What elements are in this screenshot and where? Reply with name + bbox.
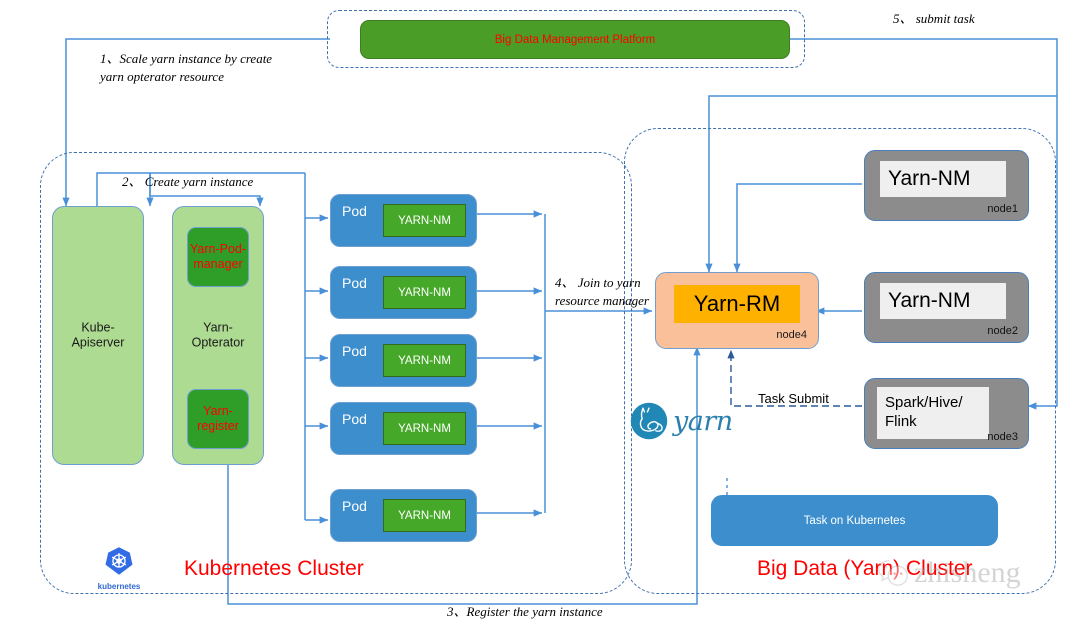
watermark-text: zhisheng	[914, 556, 1021, 590]
platform-label: Big Data Management Platform	[495, 34, 655, 46]
bigdata-node-3[interactable]: Spark/Hive/Flink node3	[864, 378, 1029, 449]
node1-label: Yarn-NM	[888, 167, 970, 191]
yarn-nm-container: YARN-NM	[383, 499, 466, 532]
node1-band: Yarn-NM	[880, 161, 1006, 197]
node2-label: Yarn-NM	[888, 289, 970, 313]
diagram-canvas: Big Data Management Platform Kube-Apiser…	[0, 0, 1080, 627]
kubernetes-logo: kubernetes	[96, 546, 142, 591]
yarn-nm-label: YARN-NM	[398, 287, 451, 299]
yarn-pod-manager-box[interactable]: Yarn-Pod-manager	[187, 227, 249, 287]
yarn-cat-icon	[630, 402, 668, 440]
yarn-wordmark: yarn	[673, 406, 733, 437]
yarn-rm-label: Yarn-RM	[694, 291, 780, 317]
node2-band: Yarn-NM	[880, 283, 1006, 319]
kubernetes-icon	[104, 546, 134, 576]
task-on-kubernetes-box[interactable]: Task on Kubernetes	[711, 495, 998, 546]
pod-4[interactable]: Pod YARN-NM	[330, 402, 477, 455]
yarn-nm-container: YARN-NM	[383, 412, 466, 445]
pod-2[interactable]: Pod YARN-NM	[330, 266, 477, 319]
bigdata-node-2[interactable]: Yarn-NM node2	[864, 272, 1029, 343]
task-box-label: Task on Kubernetes	[804, 515, 906, 527]
yarn-opterator-label: Yarn-Opterator	[173, 320, 263, 351]
kube-apiserver-label: Kube-Apiserver	[53, 320, 143, 351]
yarn-opterator-box[interactable]: Yarn-Opterator Yarn-Pod-manager Yarn-reg…	[172, 206, 264, 465]
node3-label: Spark/Hive/Flink	[885, 394, 963, 432]
pod-label: Pod	[342, 343, 367, 359]
pod-1[interactable]: Pod YARN-NM	[330, 194, 477, 247]
watermark: zhisheng	[876, 556, 1021, 590]
yarn-rm-band: Yarn-RM	[674, 285, 800, 323]
yarn-resource-manager-box[interactable]: Yarn-RM node4	[655, 272, 819, 349]
yarn-register-label: Yarn-register	[197, 404, 239, 434]
wechat-icon	[876, 556, 910, 590]
node1-name: node1	[987, 203, 1018, 215]
yarn-nm-label: YARN-NM	[398, 355, 451, 367]
yarn-register-box[interactable]: Yarn-register	[187, 389, 249, 449]
big-data-management-platform[interactable]: Big Data Management Platform	[360, 20, 790, 59]
node3-band: Spark/Hive/Flink	[877, 387, 989, 439]
kubernetes-logo-caption: kubernetes	[96, 582, 142, 591]
pod-label: Pod	[342, 411, 367, 427]
node3-name: node3	[987, 431, 1018, 443]
pod-label: Pod	[342, 203, 367, 219]
yarn-pod-manager-label: Yarn-Pod-manager	[190, 242, 246, 272]
bigdata-node-1[interactable]: Yarn-NM node1	[864, 150, 1029, 221]
kube-apiserver-box[interactable]: Kube-Apiserver	[52, 206, 144, 465]
annotation-step2: 2、 Create yarn instance	[122, 173, 342, 191]
pod-label: Pod	[342, 275, 367, 291]
yarn-nm-label: YARN-NM	[398, 215, 451, 227]
kubernetes-cluster-label: Kubernetes Cluster	[184, 557, 364, 581]
yarn-nm-container: YARN-NM	[383, 204, 466, 237]
yarn-nm-label: YARN-NM	[398, 510, 451, 522]
annotation-step1: 1、Scale yarn instance by createyarn opte…	[100, 50, 330, 85]
pod-label: Pod	[342, 498, 367, 514]
annotation-step3: 3、Register the yarn instance	[447, 603, 707, 621]
task-submit-label: Task Submit	[758, 391, 829, 406]
yarn-rm-node-label: node4	[776, 329, 807, 341]
annotation-step4: 4、 Join to yarnresource manager	[555, 274, 675, 309]
yarn-nm-container: YARN-NM	[383, 276, 466, 309]
node2-name: node2	[987, 325, 1018, 337]
pod-3[interactable]: Pod YARN-NM	[330, 334, 477, 387]
annotation-step5: 5、 submit task	[893, 10, 1073, 28]
yarn-nm-label: YARN-NM	[398, 423, 451, 435]
yarn-logo: yarn	[630, 402, 733, 440]
pod-5[interactable]: Pod YARN-NM	[330, 489, 477, 542]
yarn-nm-container: YARN-NM	[383, 344, 466, 377]
